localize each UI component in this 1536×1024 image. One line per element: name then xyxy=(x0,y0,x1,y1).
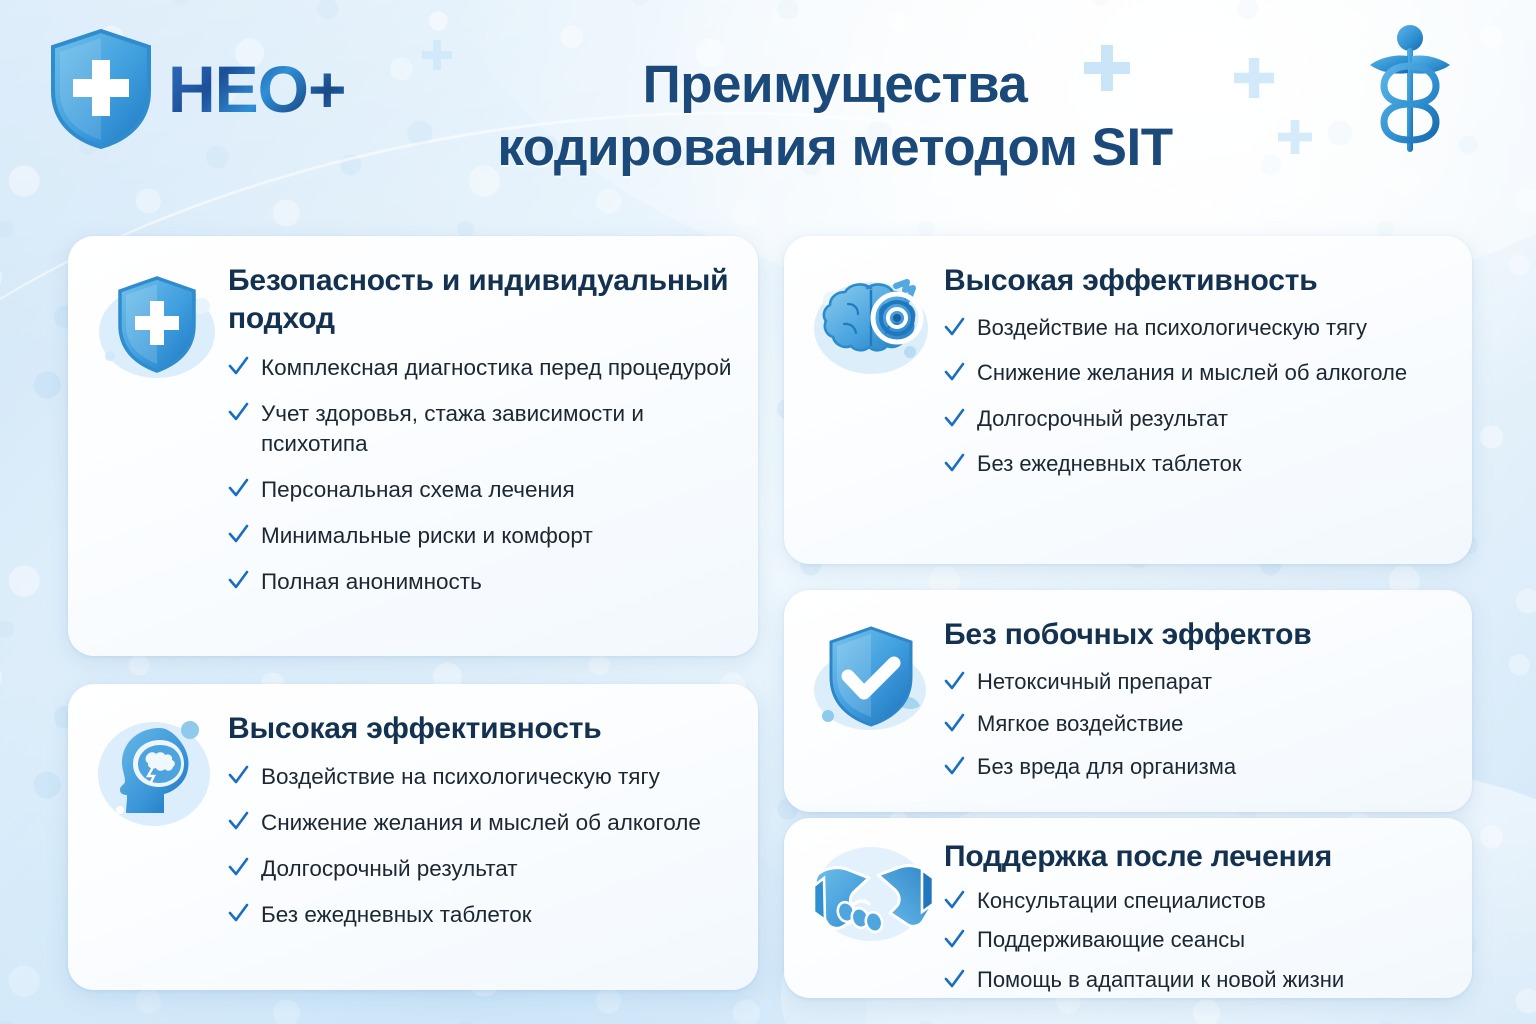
benefit-card-efficacy-left: Высокая эффективность Воздействие на пси… xyxy=(68,684,758,990)
benefit-item: Персональная схема лечения xyxy=(228,475,732,504)
card-icon-slot xyxy=(802,612,944,790)
check-icon xyxy=(228,762,249,788)
benefit-list: Воздействие на психологическую тягу Сниж… xyxy=(228,762,732,930)
benefit-item: Комплексная диагностика перед процедурой xyxy=(228,353,732,382)
benefit-text: Поддерживающие сеансы xyxy=(977,926,1245,955)
check-icon xyxy=(944,753,965,779)
check-icon xyxy=(228,808,249,834)
benefit-item: Поддерживающие сеансы xyxy=(944,926,1446,955)
benefit-item: Без ежедневных таблеток xyxy=(228,900,732,929)
card-content: Поддержка после лечения Консультации спе… xyxy=(944,834,1446,976)
head-brain-icon xyxy=(94,714,220,832)
benefit-text: Снижение желания и мыслей об алкоголе xyxy=(261,808,701,837)
benefit-text: Мягкое воздействие xyxy=(977,710,1183,739)
card-title: Безопасность и индивидуальный подход xyxy=(228,262,732,337)
benefit-card-support: Поддержка после лечения Консультации спе… xyxy=(784,818,1472,998)
check-icon xyxy=(228,353,249,379)
card-icon-slot xyxy=(802,258,944,542)
brain-target-icon xyxy=(810,266,936,384)
benefit-text: Без ежедневных таблеток xyxy=(261,900,532,929)
card-icon-slot xyxy=(86,706,228,968)
benefit-text: Учет здоровья, стажа зависимости и психо… xyxy=(261,399,732,458)
check-icon xyxy=(944,405,965,431)
benefit-item: Помощь в адаптации к новой жизни xyxy=(944,966,1446,995)
benefit-list: Комплексная диагностика перед процедурой… xyxy=(228,353,732,597)
check-icon xyxy=(944,926,965,952)
card-content: Без побочных эффектов Нетоксичный препар… xyxy=(944,612,1446,790)
benefit-text: Воздействие на психологическую тягу xyxy=(977,314,1367,343)
card-title: Высокая эффективность xyxy=(228,710,732,748)
card-title: Высокая эффективность xyxy=(944,262,1446,300)
check-icon xyxy=(228,567,249,593)
shield-cross-icon xyxy=(48,28,154,150)
card-content: Высокая эффективность Воздействие на пси… xyxy=(944,258,1446,542)
benefit-item: Полная анонимность xyxy=(228,567,732,596)
check-icon xyxy=(944,966,965,992)
shield-check-icon xyxy=(810,620,936,738)
card-title: Без побочных эффектов xyxy=(944,616,1446,654)
benefit-text: Полная анонимность xyxy=(261,567,482,596)
benefit-item: Долгосрочный результат xyxy=(228,854,732,883)
benefit-card-no-side-effects: Без побочных эффектов Нетоксичный препар… xyxy=(784,590,1472,812)
benefit-item: Воздействие на психологическую тягу xyxy=(944,314,1446,343)
handshake-icon xyxy=(810,842,936,946)
page-header: НЕО+ Преимущества кодирования методом SI… xyxy=(0,0,1536,210)
benefit-text: Персональная схема лечения xyxy=(261,475,575,504)
benefit-text: Без вреда для организма xyxy=(977,753,1236,782)
caduceus-icon xyxy=(1362,22,1458,158)
benefit-item: Снижение желания и мыслей об алкоголе xyxy=(228,808,732,837)
benefit-item: Нетоксичный препарат xyxy=(944,668,1446,697)
benefit-item: Без ежедневных таблеток xyxy=(944,450,1446,479)
brand-logo-text: НЕО+ xyxy=(168,56,346,122)
benefit-item: Минимальные риски и комфорт xyxy=(228,521,732,550)
benefit-list: Консультации специалистов Поддерживающие… xyxy=(944,887,1446,995)
check-icon xyxy=(944,710,965,736)
check-icon xyxy=(944,314,965,340)
shield-cross-icon xyxy=(94,266,220,384)
page-title-line-1: Преимущества xyxy=(330,54,1340,117)
benefit-card-efficacy-right: Высокая эффективность Воздействие на пси… xyxy=(784,236,1472,564)
card-icon-slot xyxy=(802,834,944,976)
page-title-line-2: кодирования методом SIT xyxy=(330,117,1340,180)
benefit-item: Долгосрочный результат xyxy=(944,405,1446,434)
check-icon xyxy=(944,359,965,385)
check-icon xyxy=(228,475,249,501)
page-title: Преимущества кодирования методом SIT xyxy=(330,54,1340,179)
card-icon-slot xyxy=(86,258,228,634)
check-icon xyxy=(228,854,249,880)
benefit-item: Мягкое воздействие xyxy=(944,710,1446,739)
check-icon xyxy=(228,399,249,425)
benefit-item: Без вреда для организма xyxy=(944,753,1446,782)
benefit-item: Снижение желания и мыслей об алкоголе xyxy=(944,359,1446,388)
benefit-text: Нетоксичный препарат xyxy=(977,668,1212,697)
check-icon xyxy=(228,521,249,547)
benefit-card-safety: Безопасность и индивидуальный подход Ком… xyxy=(68,236,758,656)
benefit-item: Воздействие на психологическую тягу xyxy=(228,762,732,791)
brand-logo[interactable]: НЕО+ xyxy=(48,28,346,150)
benefit-text: Долгосрочный результат xyxy=(977,405,1228,434)
check-icon xyxy=(944,887,965,913)
check-icon xyxy=(944,668,965,694)
benefit-text: Консультации специалистов xyxy=(977,887,1266,916)
benefit-item: Консультации специалистов xyxy=(944,887,1446,916)
card-content: Высокая эффективность Воздействие на пси… xyxy=(228,706,732,968)
card-content: Безопасность и индивидуальный подход Ком… xyxy=(228,258,732,634)
benefit-text: Помощь в адаптации к новой жизни xyxy=(977,966,1344,995)
check-icon xyxy=(228,900,249,926)
benefit-list: Нетоксичный препарат Мягкое воздействие … xyxy=(944,668,1446,782)
card-title: Поддержка после лечения xyxy=(944,838,1446,876)
benefit-text: Воздействие на психологическую тягу xyxy=(261,762,660,791)
benefit-item: Учет здоровья, стажа зависимости и психо… xyxy=(228,399,732,458)
benefit-list: Воздействие на психологическую тягу Сниж… xyxy=(944,314,1446,479)
benefit-text: Минимальные риски и комфорт xyxy=(261,521,593,550)
benefit-text: Снижение желания и мыслей об алкоголе xyxy=(977,359,1407,388)
benefit-text: Комплексная диагностика перед процедурой xyxy=(261,353,731,382)
benefit-text: Без ежедневных таблеток xyxy=(977,450,1242,479)
benefit-text: Долгосрочный результат xyxy=(261,854,518,883)
check-icon xyxy=(944,450,965,476)
